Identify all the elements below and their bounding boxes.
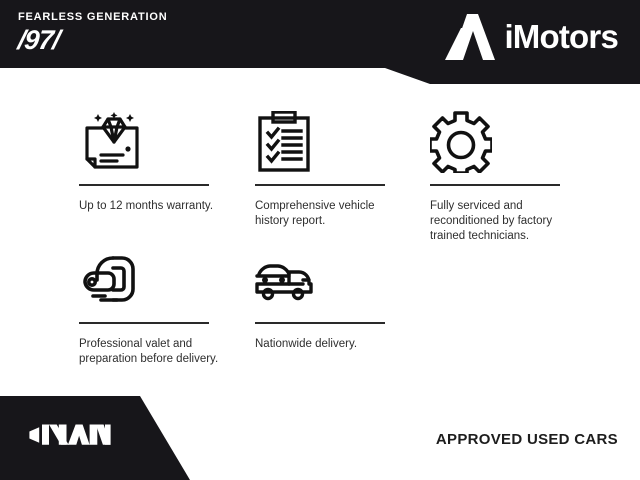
footer-tagline: APPROVED USED CARS — [436, 431, 618, 448]
footer-black-shape — [0, 396, 320, 480]
feature-divider — [255, 184, 385, 186]
brand-tagline: FEARLESS GENERATION — [18, 10, 218, 24]
feature-grid: Up to 12 months warranty. — [0, 84, 640, 396]
footer-bar: APPROVED USED CARS — [0, 396, 640, 480]
imotors-wordmark: iMotors — [504, 19, 618, 55]
fearless-generation-1971-logo: FEARLESS GENERATION /97/ — [18, 10, 218, 55]
warranty-diamond-card-icon — [79, 106, 229, 178]
feature-item-valet: Professional valet and preparation befor… — [79, 244, 229, 367]
feature-label: Nationwide delivery. — [255, 337, 405, 352]
car-transporter-truck-icon — [255, 244, 405, 316]
feature-label: Fully serviced and reconditioned by fact… — [430, 199, 580, 244]
feature-label: Professional valet and preparation befor… — [79, 337, 229, 367]
brand-year-1971: /97/ — [16, 25, 60, 55]
promo-banner: FEARLESS GENERATION /97/ iMotors — [0, 0, 640, 480]
clipboard-checklist-icon — [255, 106, 405, 178]
gear-cog-icon — [430, 106, 580, 178]
feature-divider — [79, 322, 209, 324]
imotors-logo-lockup: iMotors — [445, 14, 618, 60]
feature-item-servicing: Fully serviced and reconditioned by fact… — [430, 106, 580, 244]
feature-label: Up to 12 months warranty. — [79, 199, 229, 214]
feature-divider — [79, 184, 209, 186]
header-bar: FEARLESS GENERATION /97/ iMotors — [0, 0, 640, 84]
imotors-chevron-logo-icon — [445, 14, 495, 60]
feature-item-delivery: Nationwide delivery. — [255, 244, 405, 352]
feature-item-history-report: Comprehensive vehicle history report. — [255, 106, 405, 229]
vacuum-cleaner-icon — [79, 244, 229, 316]
feature-divider — [255, 322, 385, 324]
feature-label: Comprehensive vehicle history report. — [255, 199, 405, 229]
feature-divider — [430, 184, 560, 186]
feature-item-warranty: Up to 12 months warranty. — [79, 106, 229, 214]
